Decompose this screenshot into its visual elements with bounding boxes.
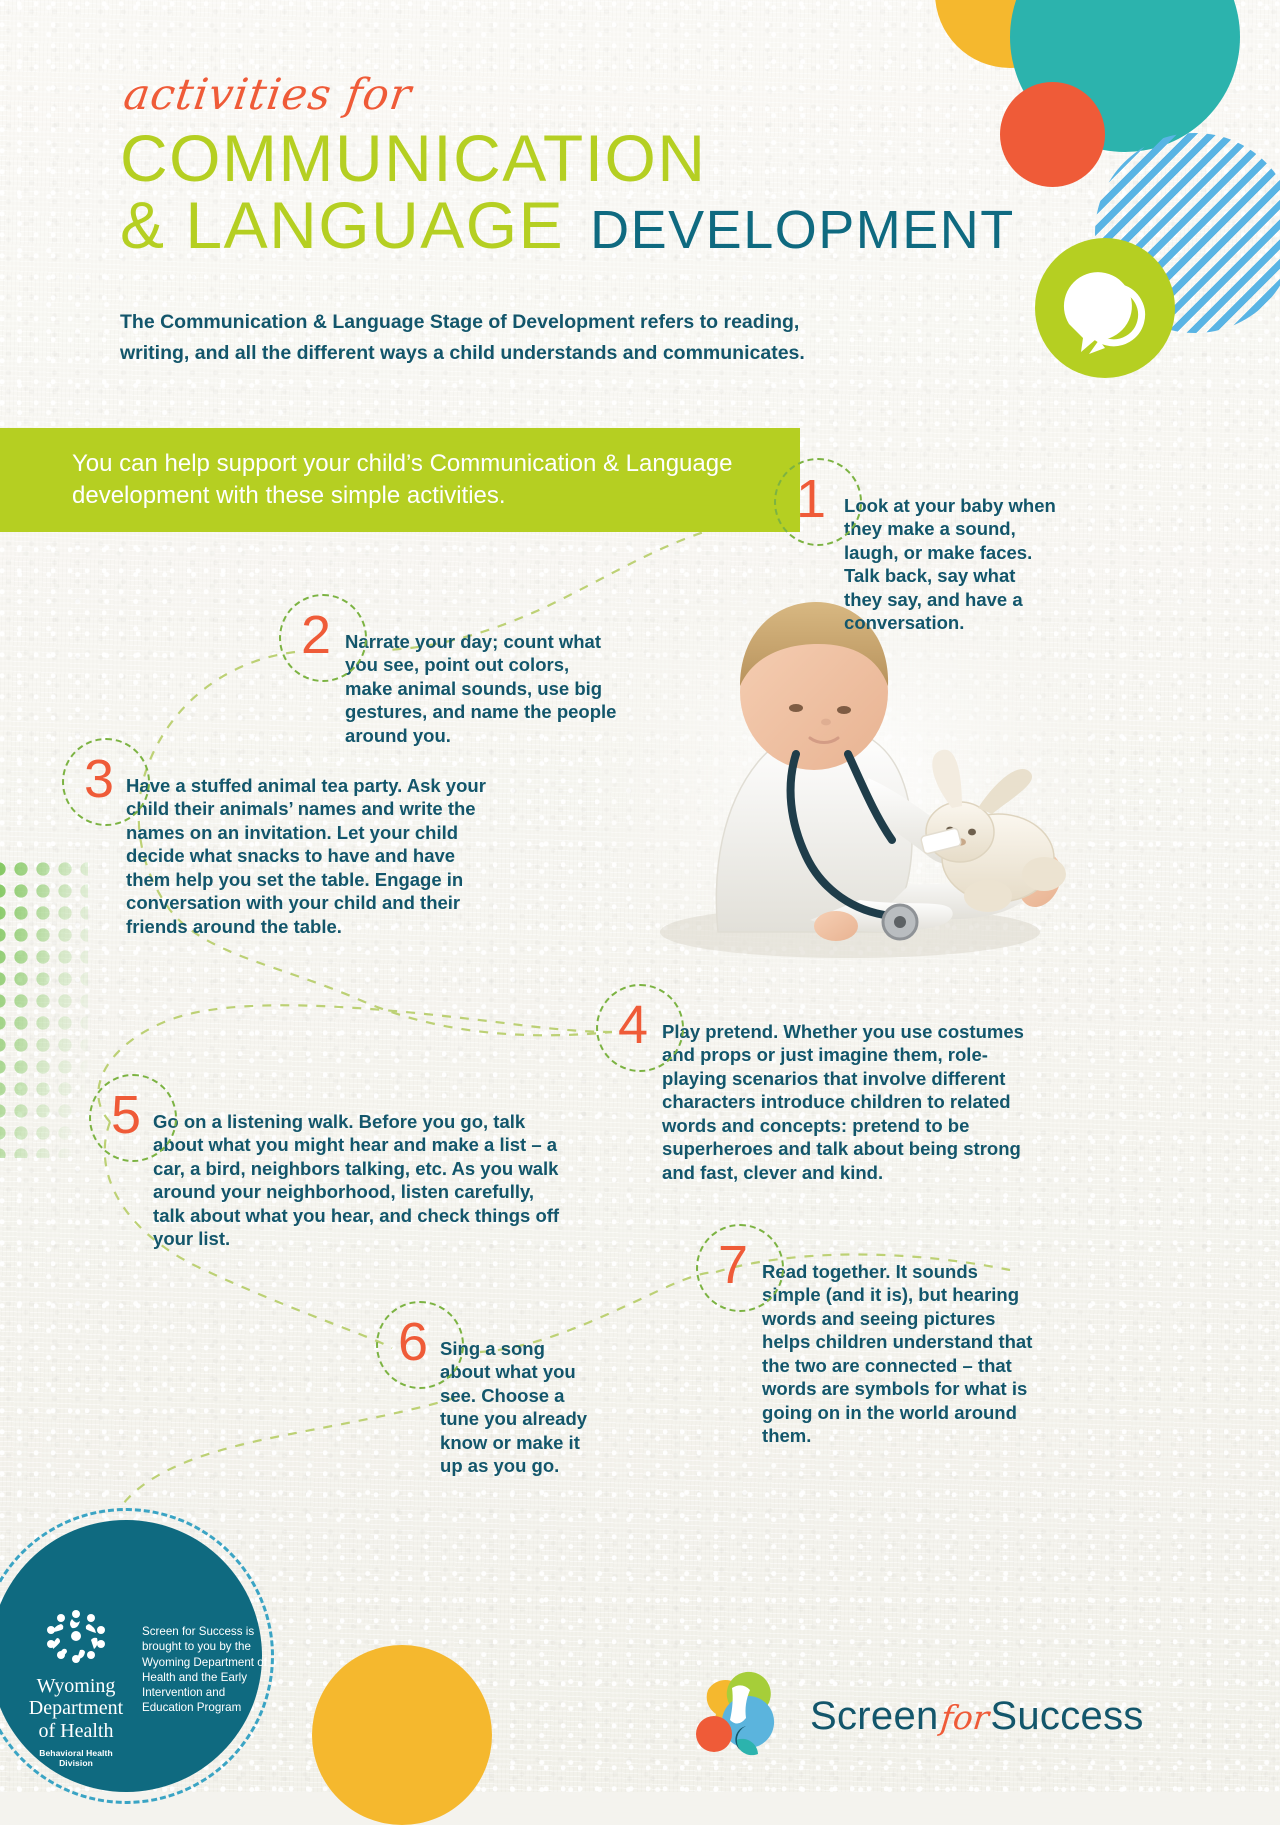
page-title-line1: COMMUNICATION (120, 127, 880, 190)
activity-number-wrap-5: 5 (105, 1088, 153, 1142)
screen-for-success-logo: Screen for Success (688, 1668, 1144, 1764)
footer-branding: Wyoming Department of Health Behavioral … (26, 1608, 276, 1768)
activity-number-wrap-7: 7 (712, 1238, 762, 1292)
people-circle-icon (39, 1608, 113, 1666)
intro-paragraph: The Communication & Language Stage of De… (120, 307, 832, 367)
activity-item-4: 4 Play pretend. Whether you use costumes… (612, 998, 1037, 1184)
activity-number-wrap-2: 2 (295, 608, 345, 662)
activity-number-6: 6 (398, 1315, 428, 1369)
activity-number-7: 7 (718, 1238, 748, 1292)
page-title-line3: DEVELOPMENT (590, 199, 1015, 261)
activity-text-3: Have a stuffed animal tea party. Ask you… (126, 774, 498, 938)
activity-number-1: 1 (796, 472, 826, 526)
activity-number-2: 2 (301, 608, 331, 662)
activity-text-2: Narrate your day; count what you see, po… (345, 630, 620, 747)
activity-text-1: Look at your baby when they make a sound… (844, 494, 1056, 635)
pinwheel-icon (688, 1668, 794, 1764)
screen-for-success-wordmark: Screen for Success (810, 1694, 1144, 1739)
wyoming-dept-health-division: Behavioral Health Division (26, 1748, 126, 1768)
wyoming-dept-health-logo: Wyoming Department of Health Behavioral … (26, 1608, 126, 1768)
activity-text-6: Sing a song about what you see. Choose a… (440, 1337, 600, 1478)
activity-item-2: 2 Narrate your day; count what you see, … (295, 608, 620, 747)
activity-item-6: 6 Sing a song about what you see. Choose… (392, 1315, 600, 1478)
activity-item-1: 1 Look at your baby when they make a sou… (790, 472, 1056, 635)
activity-number-wrap-4: 4 (612, 998, 662, 1052)
activity-item-5: 5 Go on a listening walk. Before you go,… (105, 1088, 560, 1251)
activity-number-3: 3 (84, 752, 114, 806)
logo-text-for: for (936, 1698, 992, 1737)
activity-item-7: 7 Read together. It sounds simple (and i… (712, 1238, 1040, 1448)
support-banner-text: You can help support your child’s Commun… (72, 448, 752, 512)
footer-note-text: Screen for Success is brought to you by … (142, 1608, 270, 1716)
wyoming-dept-health-name: Wyoming Department of Health (26, 1675, 126, 1742)
activity-text-4: Play pretend. Whether you use costumes a… (662, 1020, 1037, 1184)
activity-number-wrap-3: 3 (78, 752, 126, 806)
activity-item-3: 3 Have a stuffed animal tea party. Ask y… (78, 752, 498, 938)
header: activities for COMMUNICATION & LANGUAGE … (120, 74, 880, 368)
activity-number-wrap-6: 6 (392, 1315, 440, 1369)
activity-number-5: 5 (111, 1088, 141, 1142)
support-banner: You can help support your child’s Commun… (0, 428, 800, 532)
activity-number-wrap-1: 1 (790, 472, 844, 526)
page-title-line2: & LANGUAGE (120, 194, 564, 257)
activity-text-5: Go on a listening walk. Before you go, t… (153, 1110, 560, 1251)
page-title-row2: & LANGUAGE DEVELOPMENT (120, 194, 880, 261)
script-eyebrow-title: activities for (121, 74, 883, 117)
activity-number-4: 4 (618, 998, 648, 1052)
logo-text-success: Success (990, 1694, 1143, 1739)
activity-text-7: Read together. It sounds simple (and it … (762, 1260, 1040, 1448)
logo-text-screen: Screen (810, 1694, 939, 1739)
